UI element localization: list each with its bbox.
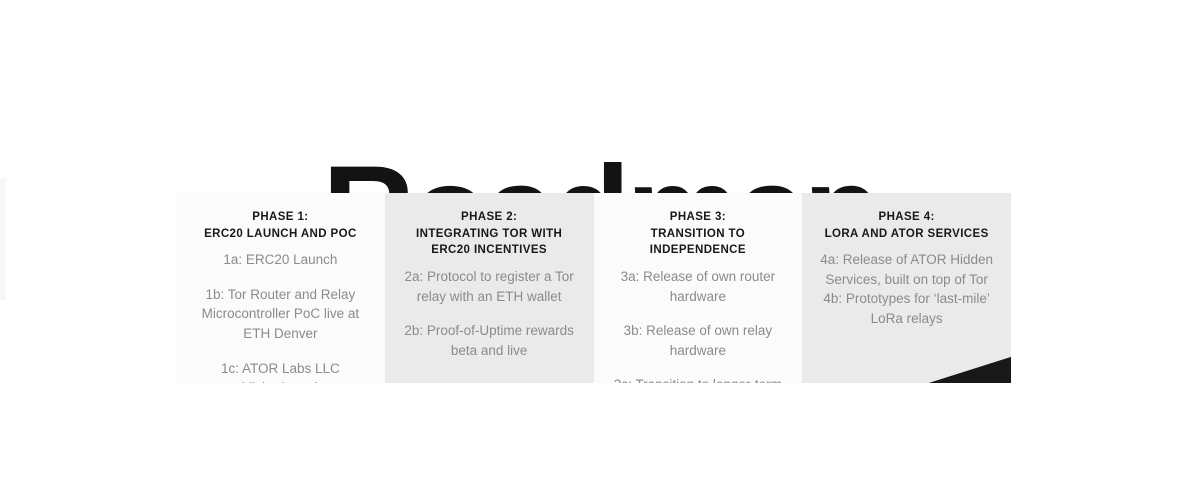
roadmap-phases: PHASE 1: ERC20 LAUNCH AND POC 1a: ERC20 … (176, 193, 1011, 383)
phase-card-2: PHASE 2: INTEGRATING TOR WITH ERC20 INCE… (385, 193, 594, 383)
phase-3-heading: PHASE 3: TRANSITION TO INDEPENDENCE (608, 209, 789, 259)
phase-1-item-2: 1b: Tor Router and Relay Microcontroller… (190, 285, 371, 344)
phase-card-3: PHASE 3: TRANSITION TO INDEPENDENCE 3a: … (594, 193, 803, 383)
phase-3-item-3: 3c: Transition to longer-term ATOR incen… (608, 375, 789, 383)
phase-2-item-1: 2a: Protocol to register a Tor relay wit… (399, 267, 580, 306)
phase-1-item-3: 1c: ATOR Labs LLC established, engineer … (190, 359, 371, 383)
phase-4-subtitle: LORA AND ATOR SERVICES (816, 226, 997, 243)
phase-4-heading: PHASE 4: LORA AND ATOR SERVICES (816, 209, 997, 242)
phase-card-1: PHASE 1: ERC20 LAUNCH AND POC 1a: ERC20 … (176, 193, 385, 383)
phase-4-item-2: 4b: Prototypes for ‘last-mile’ LoRa rela… (816, 289, 997, 328)
phase-card-4: PHASE 4: LORA AND ATOR SERVICES 4a: Rele… (802, 193, 1011, 383)
phase-3-item-1: 3a: Release of own router hardware (608, 267, 789, 306)
phase-2-label: PHASE 2: (461, 211, 517, 223)
phase-2-heading: PHASE 2: INTEGRATING TOR WITH ERC20 INCE… (399, 209, 580, 259)
phase-3-item-2: 3b: Release of own relay hardware (608, 321, 789, 360)
phase-1-label: PHASE 1: (252, 211, 308, 223)
phase-2-subtitle: INTEGRATING TOR WITH ERC20 INCENTIVES (399, 226, 580, 259)
phase-3-label: PHASE 3: (670, 211, 726, 223)
phase-2-item-2: 2b: Proof-of-Uptime rewards beta and liv… (399, 321, 580, 360)
phase-1-heading: PHASE 1: ERC20 LAUNCH AND POC (190, 209, 371, 242)
corner-wedge-decoration (929, 357, 1011, 383)
phase-1-item-1: 1a: ERC20 Launch (190, 250, 371, 270)
phase-4-label: PHASE 4: (879, 211, 935, 223)
phase-4-item-1: 4a: Release of ATOR Hidden Services, bui… (816, 250, 997, 289)
phase-3-subtitle: TRANSITION TO INDEPENDENCE (608, 226, 789, 259)
phase-1-subtitle: ERC20 LAUNCH AND POC (190, 226, 371, 243)
